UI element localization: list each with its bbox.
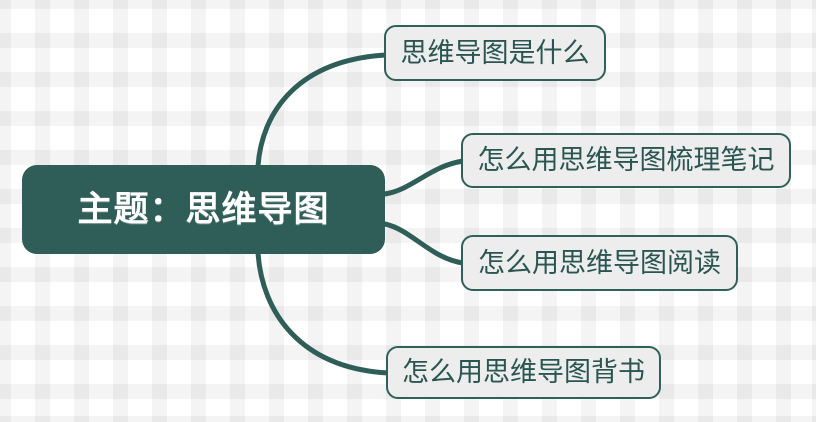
branch-node-organize-notes[interactable]: 怎么用思维导图梳理笔记 xyxy=(461,133,791,188)
branch-node-label: 思维导图是什么 xyxy=(401,40,590,67)
branch-node-what-is-mindmap[interactable]: 思维导图是什么 xyxy=(384,25,606,81)
connector-to-branch-3 xyxy=(258,253,388,373)
central-node[interactable]: 主题：思维导图 xyxy=(22,165,385,254)
mindmap-canvas: 主题：思维导图 思维导图是什么 怎么用思维导图梳理笔记 怎么用思维导图阅读 怎么… xyxy=(0,0,816,422)
branch-node-label: 怎么用思维导图背书 xyxy=(402,359,645,386)
central-node-label: 主题：思维导图 xyxy=(77,192,329,227)
branch-node-label: 怎么用思维导图阅读 xyxy=(478,250,721,277)
branch-node-memorize[interactable]: 怎么用思维导图背书 xyxy=(386,346,661,399)
connector-to-branch-0 xyxy=(258,55,386,166)
connector-to-branch-2 xyxy=(385,224,463,263)
connector-to-branch-1 xyxy=(385,161,463,194)
branch-node-label: 怎么用思维导图梳理笔记 xyxy=(478,147,775,174)
branch-node-reading[interactable]: 怎么用思维导图阅读 xyxy=(461,235,738,291)
